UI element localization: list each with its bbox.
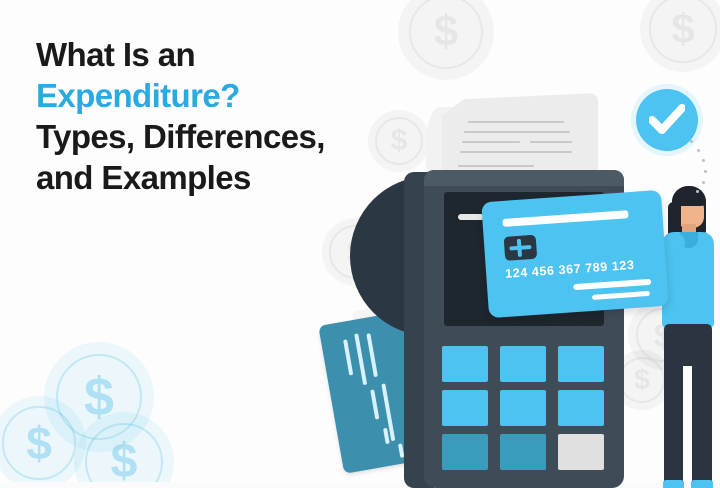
shoe-left: [663, 480, 684, 488]
coin-ring: [2, 406, 75, 479]
keypad-key[interactable]: [442, 434, 488, 470]
receipt-text-line: [468, 121, 564, 123]
keypad-key[interactable]: [442, 346, 488, 382]
emv-chip-icon: [504, 235, 538, 261]
card-top-stripe: [502, 210, 628, 227]
headline-line-1: What Is an: [36, 34, 366, 75]
dollar-coin-watermark: $: [398, 0, 494, 80]
keypad-key[interactable]: [558, 434, 604, 470]
keypad-key[interactable]: [558, 390, 604, 426]
receipt-text-line: [460, 151, 572, 153]
coin-ring: [649, 0, 716, 63]
dollar-coin-watermark: $: [368, 110, 430, 172]
dollar-coin-watermark: $: [640, 0, 720, 72]
keypad-key[interactable]: [500, 434, 546, 470]
receipt-text-line: [462, 141, 520, 143]
card-number: 124 456 367 789 123: [505, 256, 666, 281]
card-mark: [370, 389, 379, 419]
coin-ring: [85, 423, 163, 488]
receipt-text-line: [464, 131, 570, 133]
receipt-text-line: [458, 165, 534, 167]
terminal-top-edge: [424, 170, 624, 186]
leg-left: [664, 358, 683, 486]
hero-illustration-canvas: $$$$$$$$$ What Is an Expenditure? Types,…: [0, 0, 720, 488]
leg-right: [692, 358, 712, 486]
dollar-coin-watermark: $: [0, 396, 86, 488]
shoe-right: [691, 480, 713, 488]
card-mark: [366, 333, 378, 377]
screen-dash: [458, 214, 484, 220]
keypad-key[interactable]: [500, 346, 546, 382]
card-mark: [343, 339, 353, 375]
headline-line-2-accent: Expenditure?: [36, 75, 366, 116]
receipt-text-line: [530, 141, 572, 143]
terminal-keypad[interactable]: [442, 346, 606, 474]
coin-ring: [375, 117, 423, 165]
card-bottom-stripe-1: [573, 279, 651, 290]
coin-ring: [409, 0, 484, 69]
card-mark: [354, 333, 367, 385]
card-bottom-stripe-2: [592, 291, 650, 300]
headline-line-3: Types, Differences,: [36, 116, 366, 157]
keypad-key[interactable]: [442, 390, 488, 426]
payment-approved-badge: [636, 89, 698, 151]
check-icon: [649, 104, 685, 136]
keypad-key[interactable]: [558, 346, 604, 382]
primary-credit-card[interactable]: 124 456 367 789 123: [481, 190, 669, 318]
headline-line-4: and Examples: [36, 157, 366, 198]
page-title: What Is an Expenditure? Types, Differenc…: [36, 34, 366, 198]
keypad-key[interactable]: [500, 390, 546, 426]
